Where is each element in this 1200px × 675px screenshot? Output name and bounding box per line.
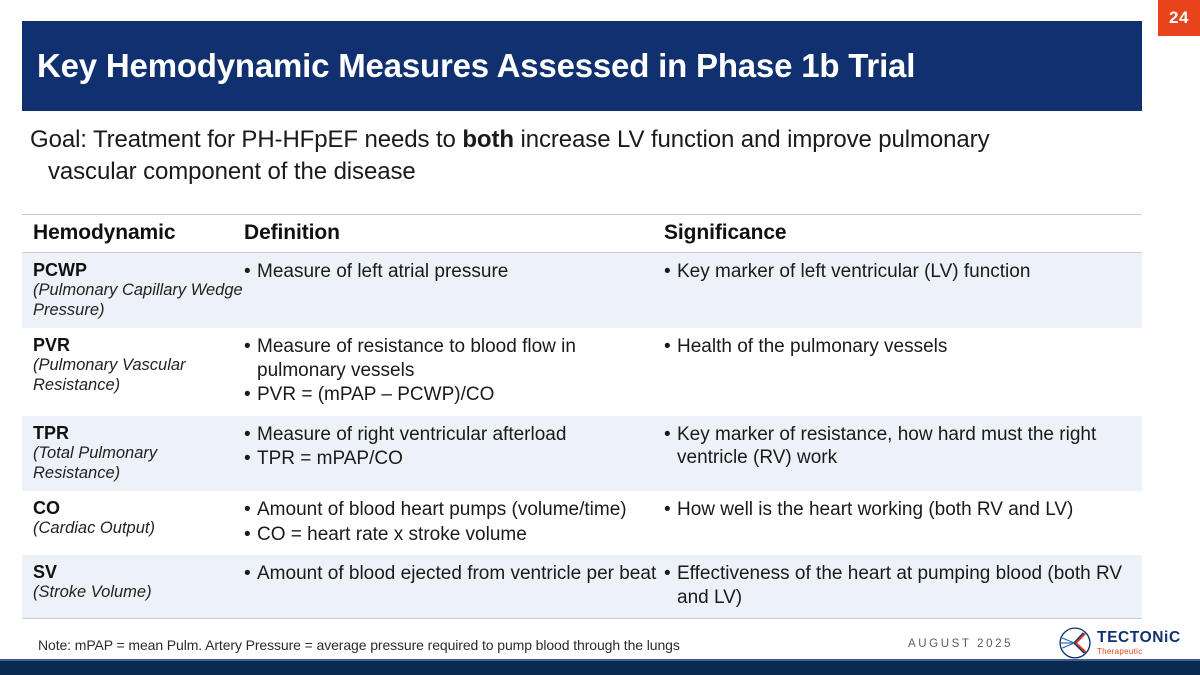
cell-measure: PCWP(Pulmonary Capillary Wedge Pressure): [22, 260, 244, 320]
bullet-item: Amount of blood heart pumps (volume/time…: [244, 498, 664, 522]
cell-definition: Measure of left atrial pressure: [244, 260, 664, 320]
cell-definition: Measure of resistance to blood flow in p…: [244, 335, 664, 408]
footnote: Note: mPAP = mean Pulm. Artery Pressure …: [38, 637, 680, 653]
goal-text-pre: Goal: Treatment for PH-HFpEF needs to: [30, 126, 462, 153]
measure-abbreviation: PVR: [33, 335, 244, 356]
bullet-item: CO = heart rate x stroke volume: [244, 523, 664, 547]
table-row: SV(Stroke Volume)Amount of blood ejected…: [22, 555, 1142, 618]
cell-measure: TPR(Total Pulmonary Resistance): [22, 423, 244, 483]
bullet-item: Measure of left atrial pressure: [244, 260, 664, 284]
bullet-item: Key marker of left ventricular (LV) func…: [664, 260, 1142, 284]
cell-measure: PVR(Pulmonary Vascular Resistance): [22, 335, 244, 408]
hemodynamic-table: Hemodynamic Definition Significance PCWP…: [22, 214, 1142, 619]
bullet-item: How well is the heart working (both RV a…: [664, 498, 1142, 522]
goal-emphasis: both: [462, 126, 514, 153]
slide-title-bar: Key Hemodynamic Measures Assessed in Pha…: [22, 21, 1142, 111]
table-row: PCWP(Pulmonary Capillary Wedge Pressure)…: [22, 253, 1142, 328]
goal-text-post: increase LV function and improve pulmona…: [514, 126, 990, 153]
cell-significance: Effectiveness of the heart at pumping bl…: [664, 562, 1142, 610]
measure-full-name: (Stroke Volume): [33, 583, 244, 602]
page-title: Key Hemodynamic Measures Assessed in Pha…: [22, 48, 915, 84]
measure-abbreviation: PCWP: [33, 260, 244, 281]
bullet-item: Measure of resistance to blood flow in p…: [244, 335, 664, 382]
measure-full-name: (Cardiac Output): [33, 519, 244, 538]
company-logo: TECTONiC Therapeutic: [1058, 626, 1181, 660]
logo-company-name: TECTONiC: [1097, 630, 1181, 646]
table-row: CO(Cardiac Output)Amount of blood heart …: [22, 491, 1142, 555]
logo-wordmark: TECTONiC Therapeutic: [1097, 630, 1181, 656]
bottom-bar: [0, 661, 1200, 675]
measure-full-name: (Pulmonary Capillary Wedge Pressure): [33, 281, 244, 320]
measure-abbreviation: CO: [33, 498, 244, 519]
cell-measure: CO(Cardiac Output): [22, 498, 244, 547]
column-header-significance: Significance: [664, 221, 1142, 245]
cell-significance: Key marker of resistance, how hard must …: [664, 423, 1142, 483]
table-row: TPR(Total Pulmonary Resistance)Measure o…: [22, 416, 1142, 491]
bullet-item: Measure of right ventricular afterload: [244, 423, 664, 447]
page-number-badge: 24: [1158, 0, 1200, 36]
bullet-item: Health of the pulmonary vessels: [664, 335, 1142, 359]
tectonic-mark-icon: [1058, 626, 1092, 660]
measure-full-name: (Total Pulmonary Resistance): [33, 444, 244, 483]
bullet-item: PVR = (mPAP – PCWP)/CO: [244, 383, 664, 407]
bullet-item: TPR = mPAP/CO: [244, 447, 664, 471]
measure-full-name: (Pulmonary Vascular Resistance): [33, 356, 244, 395]
table-bottom-rule: [22, 618, 1142, 619]
column-header-hemodynamic: Hemodynamic: [22, 221, 244, 245]
column-header-definition: Definition: [244, 221, 664, 245]
bullet-item: Effectiveness of the heart at pumping bl…: [664, 562, 1142, 609]
cell-significance: How well is the heart working (both RV a…: [664, 498, 1142, 547]
bullet-item: Amount of blood ejected from ventricle p…: [244, 562, 664, 586]
cell-definition: Measure of right ventricular afterloadTP…: [244, 423, 664, 483]
goal-text-line2: vascular component of the disease: [30, 156, 1150, 188]
table-body: PCWP(Pulmonary Capillary Wedge Pressure)…: [22, 253, 1142, 618]
cell-definition: Amount of blood ejected from ventricle p…: [244, 562, 664, 610]
table-header-row: Hemodynamic Definition Significance: [22, 215, 1142, 252]
cell-definition: Amount of blood heart pumps (volume/time…: [244, 498, 664, 547]
presentation-date: AUGUST 2025: [908, 638, 1013, 650]
goal-statement: Goal: Treatment for PH-HFpEF needs to bo…: [30, 124, 1150, 187]
cell-significance: Key marker of left ventricular (LV) func…: [664, 260, 1142, 320]
logo-tagline: Therapeutic: [1097, 648, 1181, 656]
cell-significance: Health of the pulmonary vessels: [664, 335, 1142, 408]
slide: 24 Key Hemodynamic Measures Assessed in …: [0, 0, 1200, 675]
measure-abbreviation: SV: [33, 562, 244, 583]
bullet-item: Key marker of resistance, how hard must …: [664, 423, 1142, 470]
measure-abbreviation: TPR: [33, 423, 244, 444]
table-row: PVR(Pulmonary Vascular Resistance)Measur…: [22, 328, 1142, 416]
cell-measure: SV(Stroke Volume): [22, 562, 244, 610]
